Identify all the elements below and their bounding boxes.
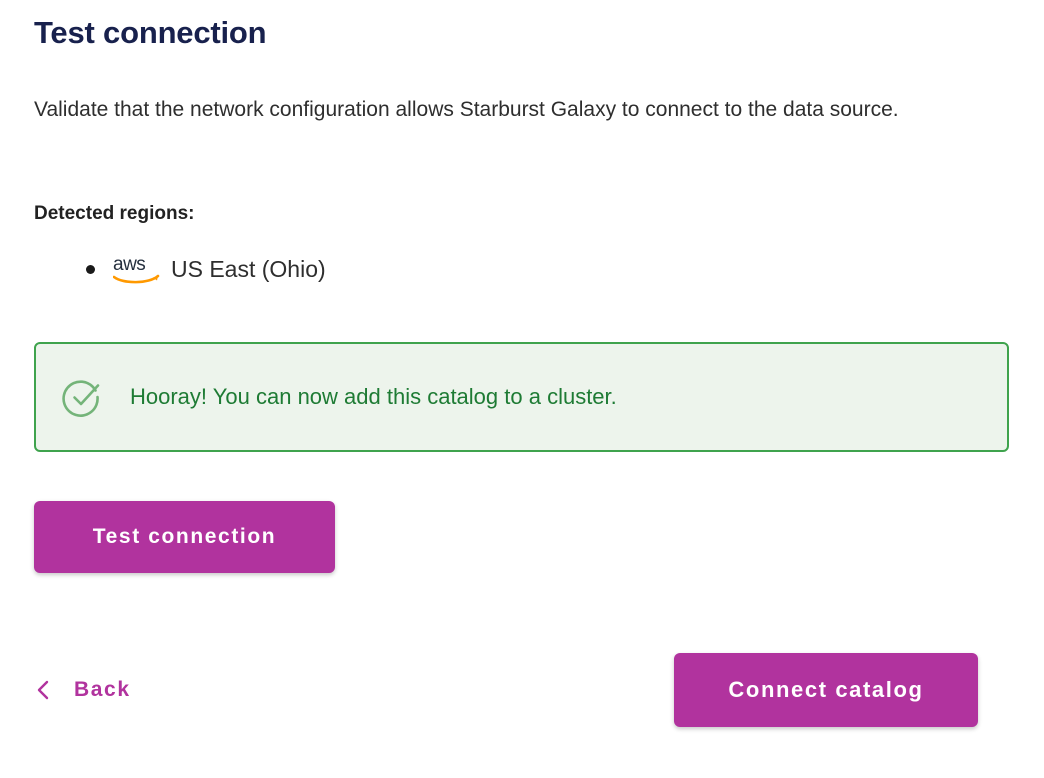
connect-catalog-button[interactable]: Connect catalog [674,653,978,727]
detected-regions-label: Detected regions: [34,200,194,228]
page-title: Test connection [34,13,266,53]
status-banner-success: Hooray! You can now add this catalog to … [34,342,1009,452]
page-description: Validate that the network configuration … [34,86,994,133]
region-name: US East (Ohio) [171,252,326,286]
aws-logo-icon: aws [113,252,163,286]
detected-regions-list: aws US East (Ohio) [34,252,326,286]
test-connection-button[interactable]: Test connection [34,501,335,573]
bullet-icon [86,265,95,274]
back-button[interactable]: Back [32,670,131,710]
status-banner-message: Hooray! You can now add this catalog to … [130,382,617,412]
chevron-left-icon [32,678,54,702]
svg-text:aws: aws [113,254,145,275]
list-item: aws US East (Ohio) [34,252,326,286]
test-connection-panel: Test connection Validate that the networ… [0,0,1044,778]
back-button-label: Back [74,678,131,702]
check-circle-icon [62,376,104,418]
